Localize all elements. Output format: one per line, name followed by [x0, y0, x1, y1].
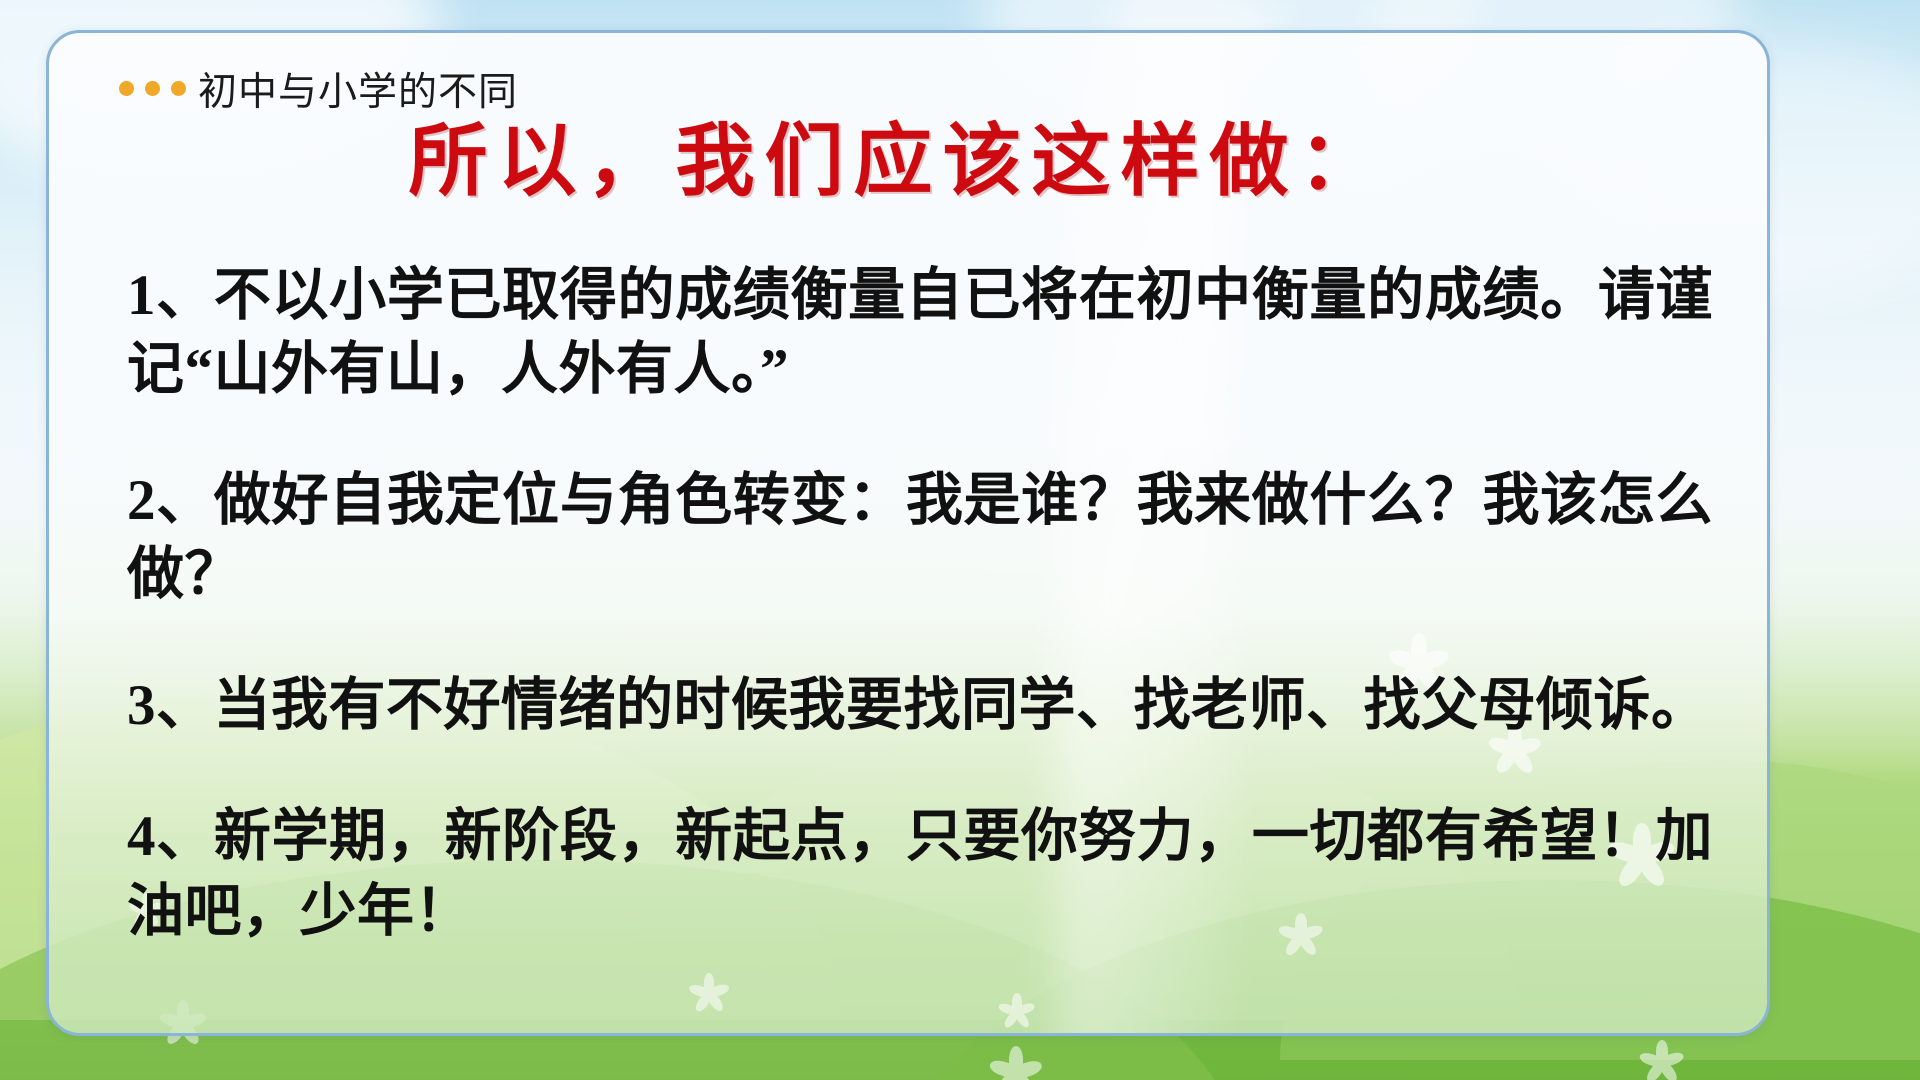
list-item: 3、当我有不好情绪的时候我要找同学、找老师、找父母倾诉。: [127, 669, 1713, 743]
flower-decoration: [999, 993, 1035, 1029]
page-title: 所以，我们应该这样做：: [93, 123, 1723, 202]
three-dots-icon: [119, 81, 186, 96]
list-item: 1、不以小学已取得的成绩衡量自已将在初中衡量的成绩。请谨记“山外有山，人外有人。…: [127, 259, 1713, 407]
content-panel: 初中与小学的不同 所以，我们应该这样做： 1、不以小学已取得的成绩衡量自已将在初…: [46, 30, 1770, 1036]
flower-decoration: [1640, 1040, 1684, 1080]
slide-canvas: 初中与小学的不同 所以，我们应该这样做： 1、不以小学已取得的成绩衡量自已将在初…: [0, 0, 1920, 1080]
list-item: 2、做好自我定位与角色转变：我是谁？我来做什么？我该怎么做？: [127, 464, 1713, 612]
flower-decoration: [689, 973, 729, 1013]
flower-decoration: [990, 1046, 1042, 1080]
section-eyebrow: 初中与小学的不同: [119, 61, 1723, 117]
eyebrow-label: 初中与小学的不同: [198, 61, 518, 117]
list-item: 4、新学期，新阶段，新起点，只要你努力，一切都有希望！加油吧，少年！: [127, 800, 1713, 948]
bullet-list: 1、不以小学已取得的成绩衡量自已将在初中衡量的成绩。请谨记“山外有山，人外有人。…: [93, 259, 1723, 949]
panel-content: 初中与小学的不同 所以，我们应该这样做： 1、不以小学已取得的成绩衡量自已将在初…: [49, 33, 1767, 949]
